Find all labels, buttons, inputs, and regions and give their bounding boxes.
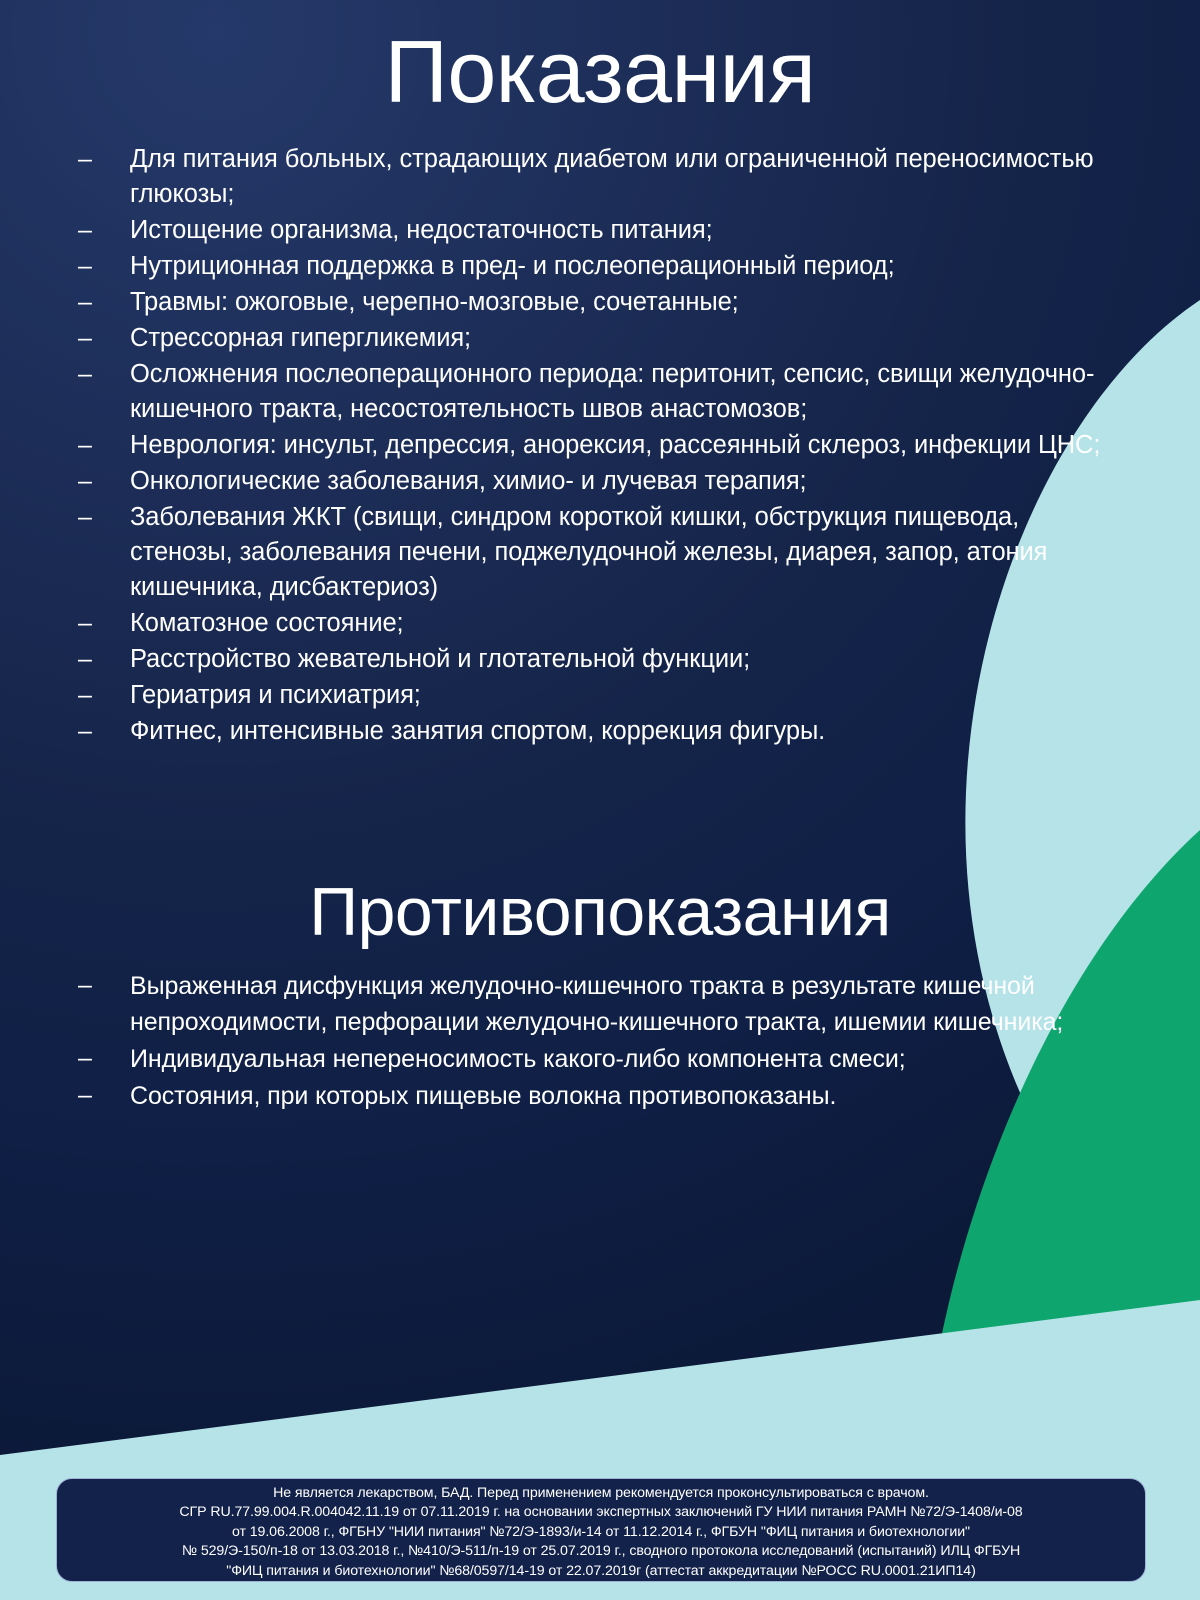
bullet-dash-icon: –	[78, 642, 130, 677]
bullet-dash-icon: –	[78, 249, 130, 284]
list-item: – Онкологические заболевания, химио- и л…	[78, 464, 1108, 499]
list-item: – Для питания больных, страдающих диабет…	[78, 142, 1108, 212]
bullet-dash-icon: –	[78, 142, 130, 177]
bullet-dash-icon: –	[78, 464, 130, 499]
indications-list: – Для питания больных, страдающих диабет…	[78, 142, 1108, 750]
bullet-dash-icon: –	[78, 968, 130, 1003]
list-item: – Стрессорная гипергликемия;	[78, 321, 1108, 356]
bullet-dash-icon: –	[78, 1078, 130, 1113]
bullet-dash-icon: –	[78, 357, 130, 392]
list-item: – Фитнес, интенсивные занятия спортом, к…	[78, 714, 1108, 749]
bullet-dash-icon: –	[78, 678, 130, 713]
list-item-text: Осложнения послеоперационного периода: п…	[130, 357, 1108, 427]
bullet-dash-icon: –	[78, 428, 130, 463]
list-item-text: Нутриционная поддержка в пред- и послеоп…	[130, 249, 1108, 284]
page-title-indications: Показания	[0, 28, 1200, 116]
list-item-text: Расстройство жевательной и глотательной …	[130, 642, 1108, 677]
list-item: – Расстройство жевательной и глотательно…	[78, 642, 1108, 677]
list-item: – Заболевания ЖКТ (свищи, синдром коротк…	[78, 500, 1108, 605]
bullet-dash-icon: –	[78, 213, 130, 248]
list-item: – Нутриционная поддержка в пред- и после…	[78, 249, 1108, 284]
footer-line: СГР RU.77.99.004.R.004042.11.19 от 07.11…	[57, 1503, 1145, 1522]
bullet-dash-icon: –	[78, 1041, 130, 1076]
list-item: – Истощение организма, недостаточность п…	[78, 213, 1108, 248]
list-item-text: Выраженная дисфункция желудочно-кишечног…	[130, 968, 1088, 1040]
list-item-text: Состояния, при которых пищевые волокна п…	[130, 1078, 1088, 1114]
list-item: – Гериатрия и психиатрия;	[78, 678, 1108, 713]
page-title-contraindications: Противопоказания	[0, 878, 1200, 946]
list-item-text: Коматозное состояние;	[130, 606, 1108, 641]
list-item: – Осложнения послеоперационного периода:…	[78, 357, 1108, 427]
footer-line: № 529/Э-150/п-18 от 13.03.2018 г., №410/…	[57, 1542, 1145, 1561]
list-item-text: Заболевания ЖКТ (свищи, синдром короткой…	[130, 500, 1108, 605]
list-item-text: Фитнес, интенсивные занятия спортом, кор…	[130, 714, 1108, 749]
footer-line: Не является лекарством, БАД. Перед приме…	[57, 1484, 1145, 1503]
list-item-text: Травмы: ожоговые, черепно-мозговые, соче…	[130, 285, 1108, 320]
poster-root: Показания – Для питания больных, страдаю…	[0, 0, 1200, 1600]
footer-line: "ФИЦ питания и биотехнологии" №68/0597/1…	[57, 1562, 1145, 1581]
list-item-text: Стрессорная гипергликемия;	[130, 321, 1108, 356]
footer-line: от 19.06.2008 г., ФГБНУ "НИИ питания" №7…	[57, 1523, 1145, 1542]
list-item: – Травмы: ожоговые, черепно-мозговые, со…	[78, 285, 1108, 320]
contraindications-list: – Выраженная дисфункция желудочно-кишечн…	[78, 968, 1088, 1115]
bullet-dash-icon: –	[78, 500, 130, 535]
list-item-text: Истощение организма, недостаточность пит…	[130, 213, 1108, 248]
bullet-dash-icon: –	[78, 285, 130, 320]
footer-disclaimer-box: Не является лекарством, БАД. Перед приме…	[56, 1478, 1146, 1582]
list-item: – Выраженная дисфункция желудочно-кишечн…	[78, 968, 1088, 1040]
bullet-dash-icon: –	[78, 606, 130, 641]
list-item-text: Гериатрия и психиатрия;	[130, 678, 1108, 713]
bullet-dash-icon: –	[78, 714, 130, 749]
list-item-text: Для питания больных, страдающих диабетом…	[130, 142, 1108, 212]
list-item: – Индивидуальная непереносимость какого-…	[78, 1041, 1088, 1077]
list-item-text: Индивидуальная непереносимость какого-ли…	[130, 1041, 1088, 1077]
list-item: – Состояния, при которых пищевые волокна…	[78, 1078, 1088, 1114]
list-item: – Коматозное состояние;	[78, 606, 1108, 641]
list-item: – Неврология: инсульт, депрессия, анорек…	[78, 428, 1108, 463]
bullet-dash-icon: –	[78, 321, 130, 356]
list-item-text: Онкологические заболевания, химио- и луч…	[130, 464, 1108, 499]
list-item-text: Неврология: инсульт, депрессия, анорекси…	[130, 428, 1108, 463]
